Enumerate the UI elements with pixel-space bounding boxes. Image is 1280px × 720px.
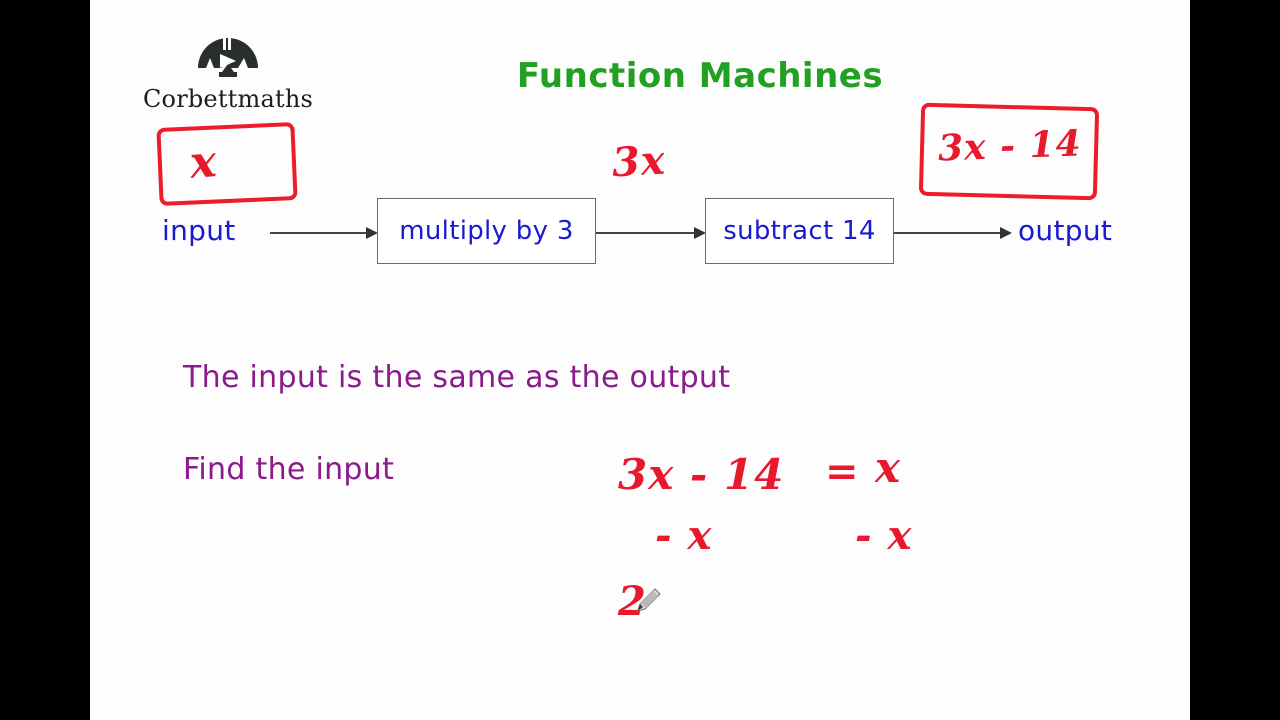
corbettmaths-fan-logo-icon xyxy=(192,28,264,84)
annotation-input-value: x xyxy=(188,136,219,189)
brand-wordmark: Corbettmaths xyxy=(138,85,318,113)
arrow-head xyxy=(1000,227,1012,239)
annotation-output-value: 3x - 14 xyxy=(937,123,1082,170)
input-label: input xyxy=(162,214,236,247)
arrow-shaft xyxy=(894,232,1001,234)
letterbox-left xyxy=(0,0,90,720)
video-frame: Corbettmaths Function Machines x input m… xyxy=(0,0,1280,720)
letterbox-right xyxy=(1190,0,1280,720)
annotation-box-input xyxy=(156,122,297,206)
arrow-multiply-to-subtract xyxy=(596,227,706,239)
working-line1-left: 3x - 14 xyxy=(618,450,784,499)
page-title: Function Machines xyxy=(490,56,910,96)
working-line2-left: - x xyxy=(655,512,712,559)
arrow-shaft xyxy=(596,232,695,234)
arrow-shaft xyxy=(270,232,367,234)
working-line2-right: - x xyxy=(855,512,912,559)
working-line1-right: x xyxy=(875,443,901,492)
function-box-subtract[interactable]: subtract 14 xyxy=(705,198,894,264)
statement-input-equals-output: The input is the same as the output xyxy=(183,360,730,395)
slide-canvas: Corbettmaths Function Machines x input m… xyxy=(90,0,1190,720)
working-line3-partial: 2 xyxy=(618,578,647,625)
output-label: output xyxy=(1018,214,1112,247)
brand-logo: Corbettmaths xyxy=(138,28,318,113)
arrow-input-to-multiply xyxy=(270,227,378,239)
working-equals-sign: = xyxy=(825,448,860,495)
arrow-subtract-to-output xyxy=(894,227,1012,239)
statement-find-the-input: Find the input xyxy=(183,452,394,487)
annotation-intermediate-value: 3x xyxy=(611,137,667,187)
function-box-multiply[interactable]: multiply by 3 xyxy=(377,198,596,264)
